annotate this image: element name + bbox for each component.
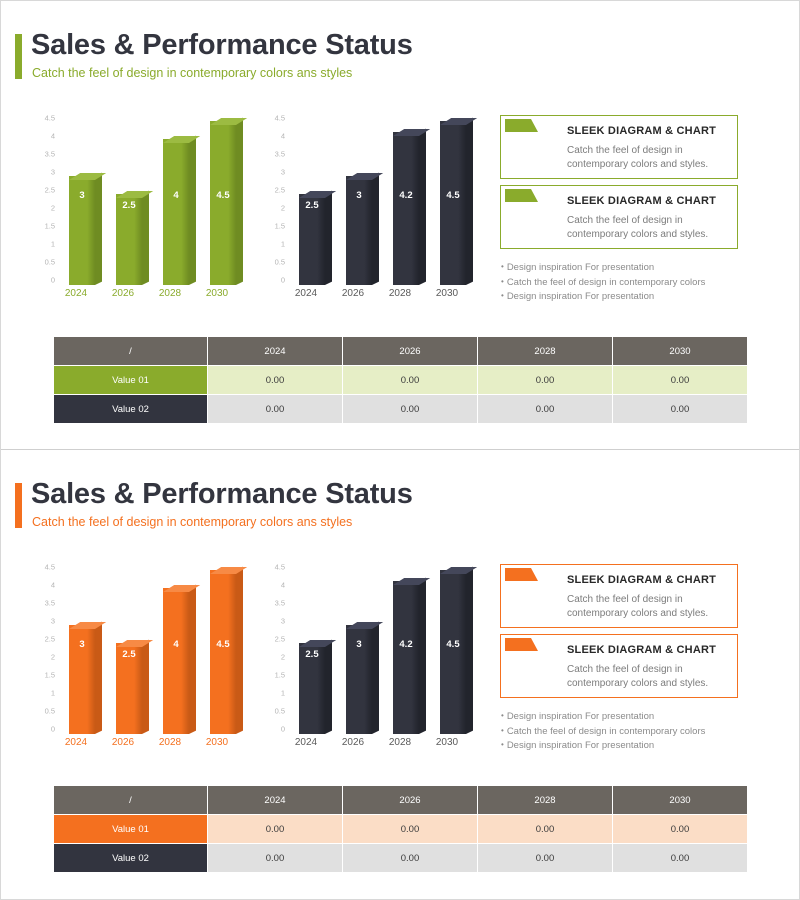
info-box-2[interactable]: SLEEK DIAGRAM & CHARTCatch the feel of d…: [500, 185, 738, 249]
bar-front-face: [163, 588, 189, 734]
page-title: Sales & Performance Status: [31, 478, 413, 511]
bullet-item-3: Design inspiration For presentation: [501, 290, 746, 305]
x-axis-tick-2026: 2026: [103, 289, 143, 299]
table-header-corner: /: [54, 786, 208, 815]
bar-side-face: [372, 173, 379, 285]
y-axis-tick: 0.5: [275, 707, 285, 715]
bar-2028[interactable]: 4.2: [393, 132, 419, 285]
bar-2028[interactable]: 4: [163, 139, 189, 285]
bar-front-face: [440, 570, 466, 734]
table-row-label-2: Value 02: [54, 395, 208, 424]
x-axis: 2024202620282030: [59, 738, 257, 752]
y-axis-tick: 4.5: [45, 114, 55, 122]
y-axis-tick: 0: [281, 276, 285, 284]
table-row: Value 020.000.000.000.00: [54, 395, 748, 424]
bar-value-label: 2.5: [299, 649, 325, 660]
info-box-2[interactable]: SLEEK DIAGRAM & CHARTCatch the feel of d…: [500, 634, 738, 698]
table-header-2030: 2030: [613, 337, 748, 366]
x-axis-tick-2028: 2028: [150, 738, 190, 748]
y-axis-tick: 2.5: [275, 186, 285, 194]
y-axis-tick: 2: [51, 204, 55, 212]
table-header-2030: 2030: [613, 786, 748, 815]
bar-value-label: 4.5: [440, 639, 466, 650]
bar-2030[interactable]: 4.5: [210, 121, 236, 285]
y-axis-tick: 4.5: [275, 114, 285, 122]
ribbon-icon: [505, 189, 531, 202]
y-axis-tick: 3: [281, 617, 285, 625]
y-axis-tick: 1.5: [275, 671, 285, 679]
table-cell-r1-c1: 0.00: [208, 366, 343, 395]
page-subtitle: Catch the feel of design in contemporary…: [32, 66, 352, 80]
x-axis-tick-2026: 2026: [333, 738, 373, 748]
y-axis-tick: 0: [281, 725, 285, 733]
y-axis-tick: 0.5: [45, 707, 55, 715]
table-cell-r1-c2: 0.00: [343, 366, 478, 395]
table-row: Value 020.000.000.000.00: [54, 844, 748, 873]
y-axis-tick: 3.5: [275, 150, 285, 158]
bar-value-label: 4.2: [393, 190, 419, 201]
bar-value-label: 3: [69, 190, 95, 201]
table-cell-r2-c2: 0.00: [343, 844, 478, 873]
table-header-2024: 2024: [208, 786, 343, 815]
bar-side-face: [189, 136, 196, 285]
ribbon-icon: [505, 119, 531, 132]
plot-area: 32.544.5: [59, 562, 257, 734]
y-axis-tick: 1.5: [275, 222, 285, 230]
bullet-item-3: Design inspiration For presentation: [501, 739, 746, 754]
table-cell-r1-c3: 0.00: [478, 815, 613, 844]
info-box-title: SLEEK DIAGRAM & CHART: [567, 644, 716, 656]
info-box-title: SLEEK DIAGRAM & CHART: [567, 195, 716, 207]
y-axis-tick: 1: [281, 240, 285, 248]
y-axis-tick: 1: [51, 689, 55, 697]
table-row-label-1: Value 01: [54, 815, 208, 844]
bullet-item-1: Design inspiration For presentation: [501, 710, 746, 725]
bar-side-face: [372, 622, 379, 734]
y-axis-tick: 3: [281, 168, 285, 176]
y-axis-tick: 4: [281, 132, 285, 140]
table-header-2026: 2026: [343, 786, 478, 815]
ribbon-icon: [505, 568, 531, 581]
page-title: Sales & Performance Status: [31, 29, 413, 62]
bar-side-face: [142, 191, 149, 285]
bullet-list: Design inspiration For presentationCatch…: [501, 710, 746, 754]
y-axis-tick: 4: [51, 581, 55, 589]
info-box-title: SLEEK DIAGRAM & CHART: [567, 574, 716, 586]
x-axis-tick-2024: 2024: [56, 289, 96, 299]
bar-chart-primary: 4.543.532.521.510.5032.544.5202420262028…: [29, 113, 259, 303]
table-cell-r2-c4: 0.00: [613, 395, 748, 424]
page-subtitle: Catch the feel of design in contemporary…: [32, 515, 352, 529]
bar-side-face: [466, 567, 473, 734]
bar-2028[interactable]: 4.2: [393, 581, 419, 734]
bar-side-face: [142, 640, 149, 734]
bar-front-face: [210, 121, 236, 285]
info-box-1[interactable]: SLEEK DIAGRAM & CHARTCatch the feel of d…: [500, 564, 738, 628]
bar-value-label: 2.5: [116, 200, 142, 211]
y-axis-tick: 2: [281, 204, 285, 212]
bar-value-label: 4: [163, 639, 189, 650]
y-axis-tick: 4: [281, 581, 285, 589]
y-axis-tick: 2.5: [275, 635, 285, 643]
bar-value-label: 4: [163, 190, 189, 201]
x-axis-tick-2024: 2024: [286, 738, 326, 748]
y-axis-tick: 1: [281, 689, 285, 697]
table-cell-r1-c3: 0.00: [478, 366, 613, 395]
bar-2026[interactable]: 3: [346, 176, 372, 285]
table-cell-r1-c4: 0.00: [613, 366, 748, 395]
table-row: Value 010.000.000.000.00: [54, 815, 748, 844]
bar-front-face: [393, 132, 419, 285]
bar-value-label: 3: [346, 639, 372, 650]
y-axis-tick: 0: [51, 276, 55, 284]
bar-front-face: [210, 570, 236, 734]
bar-side-face: [236, 118, 243, 285]
y-axis-tick: 3.5: [45, 599, 55, 607]
y-axis-tick: 4.5: [275, 563, 285, 571]
bar-side-face: [95, 622, 102, 734]
bar-2028[interactable]: 4: [163, 588, 189, 734]
y-axis-tick: 1.5: [45, 222, 55, 230]
bullet-item-2: Catch the feel of design in contemporary…: [501, 725, 746, 740]
y-axis: 4.543.532.521.510.50: [259, 113, 285, 285]
data-table: /2024202620282030Value 010.000.000.000.0…: [53, 336, 748, 424]
bar-side-face: [236, 567, 243, 734]
bar-front-face: [163, 139, 189, 285]
table-cell-r1-c1: 0.00: [208, 815, 343, 844]
header-accent-bar: [15, 34, 22, 79]
plot-area: 2.534.24.5: [289, 113, 487, 285]
bullet-list: Design inspiration For presentationCatch…: [501, 261, 746, 305]
info-box-1[interactable]: SLEEK DIAGRAM & CHARTCatch the feel of d…: [500, 115, 738, 179]
x-axis-tick-2028: 2028: [380, 738, 420, 748]
bar-chart-primary: 4.543.532.521.510.5032.544.5202420262028…: [29, 562, 259, 752]
bar-value-label: 4.2: [393, 639, 419, 650]
table-row-label-2: Value 02: [54, 844, 208, 873]
ribbon-icon: [505, 638, 531, 651]
y-axis: 4.543.532.521.510.50: [259, 562, 285, 734]
table-header-2024: 2024: [208, 337, 343, 366]
info-box-body: Catch the feel of design in contemporary…: [567, 663, 732, 690]
y-axis-tick: 3: [51, 617, 55, 625]
bullet-item-1: Design inspiration For presentation: [501, 261, 746, 276]
table-header-corner: /: [54, 337, 208, 366]
x-axis: 2024202620282030: [59, 289, 257, 303]
y-axis: 4.543.532.521.510.50: [29, 562, 55, 734]
bar-chart-secondary: 4.543.532.521.510.502.534.24.52024202620…: [259, 113, 489, 303]
bar-2026[interactable]: 2.5: [116, 643, 142, 734]
x-axis-tick-2028: 2028: [150, 289, 190, 299]
y-axis-tick: 3: [51, 168, 55, 176]
y-axis-tick: 1.5: [45, 671, 55, 679]
bar-side-face: [419, 578, 426, 734]
x-axis: 2024202620282030: [289, 289, 487, 303]
plot-area: 32.544.5: [59, 113, 257, 285]
x-axis-tick-2028: 2028: [380, 289, 420, 299]
y-axis-tick: 3.5: [45, 150, 55, 158]
bar-value-label: 4.5: [210, 639, 236, 650]
bar-side-face: [419, 129, 426, 285]
presentation-page: Sales & Performance StatusCatch the feel…: [0, 0, 800, 900]
x-axis-tick-2026: 2026: [103, 738, 143, 748]
table-cell-r2-c3: 0.00: [478, 395, 613, 424]
table-row-label-1: Value 01: [54, 366, 208, 395]
x-axis: 2024202620282030: [289, 738, 487, 752]
table-header-2028: 2028: [478, 337, 613, 366]
slide-container: Sales & Performance StatusCatch the feel…: [1, 1, 799, 897]
plot-area: 2.534.24.5: [289, 562, 487, 734]
x-axis-tick-2030: 2030: [427, 738, 467, 748]
bar-side-face: [325, 191, 332, 285]
table-header-2028: 2028: [478, 786, 613, 815]
x-axis-tick-2030: 2030: [427, 289, 467, 299]
bar-2024[interactable]: 2.5: [299, 643, 325, 734]
bar-2030[interactable]: 4.5: [210, 570, 236, 734]
info-box-body: Catch the feel of design in contemporary…: [567, 593, 732, 620]
table-header-row: /2024202620282030: [54, 786, 748, 815]
table-cell-r2-c4: 0.00: [613, 844, 748, 873]
bar-2024[interactable]: 2.5: [299, 194, 325, 285]
x-axis-tick-2026: 2026: [333, 289, 373, 299]
bar-chart-secondary: 4.543.532.521.510.502.534.24.52024202620…: [259, 562, 489, 752]
y-axis-tick: 2: [51, 653, 55, 661]
table-cell-r2-c3: 0.00: [478, 844, 613, 873]
table-header-2026: 2026: [343, 337, 478, 366]
bar-value-label: 4.5: [210, 190, 236, 201]
bar-2026[interactable]: 3: [346, 625, 372, 734]
bar-value-label: 2.5: [299, 200, 325, 211]
y-axis-tick: 2: [281, 653, 285, 661]
slide-1: Sales & Performance StatusCatch the feel…: [1, 1, 799, 449]
info-box-body: Catch the feel of design in contemporary…: [567, 214, 732, 241]
bar-side-face: [189, 585, 196, 734]
slide-2: Sales & Performance StatusCatch the feel…: [1, 449, 799, 897]
y-axis-tick: 4.5: [45, 563, 55, 571]
table-header-row: /2024202620282030: [54, 337, 748, 366]
table-cell-r2-c2: 0.00: [343, 395, 478, 424]
x-axis-tick-2024: 2024: [286, 289, 326, 299]
info-box-body: Catch the feel of design in contemporary…: [567, 144, 732, 171]
bar-2026[interactable]: 2.5: [116, 194, 142, 285]
table-row: Value 010.000.000.000.00: [54, 366, 748, 395]
data-table: /2024202620282030Value 010.000.000.000.0…: [53, 785, 748, 873]
bar-2024[interactable]: 3: [69, 625, 95, 734]
y-axis-tick: 0: [51, 725, 55, 733]
info-box-title: SLEEK DIAGRAM & CHART: [567, 125, 716, 137]
y-axis-tick: 0.5: [45, 258, 55, 266]
bar-2024[interactable]: 3: [69, 176, 95, 285]
table-cell-r1-c4: 0.00: [613, 815, 748, 844]
x-axis-tick-2030: 2030: [197, 738, 237, 748]
bar-side-face: [325, 640, 332, 734]
y-axis-tick: 2.5: [45, 635, 55, 643]
x-axis-tick-2030: 2030: [197, 289, 237, 299]
y-axis-tick: 4: [51, 132, 55, 140]
bullet-item-2: Catch the feel of design in contemporary…: [501, 276, 746, 291]
y-axis-tick: 0.5: [275, 258, 285, 266]
table-cell-r2-c1: 0.00: [208, 844, 343, 873]
bar-front-face: [393, 581, 419, 734]
bar-side-face: [466, 118, 473, 285]
bar-2030[interactable]: 4.5: [440, 570, 466, 734]
x-axis-tick-2024: 2024: [56, 738, 96, 748]
bar-side-face: [95, 173, 102, 285]
bar-value-label: 3: [69, 639, 95, 650]
bar-2030[interactable]: 4.5: [440, 121, 466, 285]
bar-value-label: 4.5: [440, 190, 466, 201]
header-accent-bar: [15, 483, 22, 528]
y-axis-tick: 3.5: [275, 599, 285, 607]
bar-front-face: [440, 121, 466, 285]
table-cell-r2-c1: 0.00: [208, 395, 343, 424]
y-axis: 4.543.532.521.510.50: [29, 113, 55, 285]
bar-value-label: 2.5: [116, 649, 142, 660]
y-axis-tick: 1: [51, 240, 55, 248]
y-axis-tick: 2.5: [45, 186, 55, 194]
table-cell-r1-c2: 0.00: [343, 815, 478, 844]
bar-value-label: 3: [346, 190, 372, 201]
